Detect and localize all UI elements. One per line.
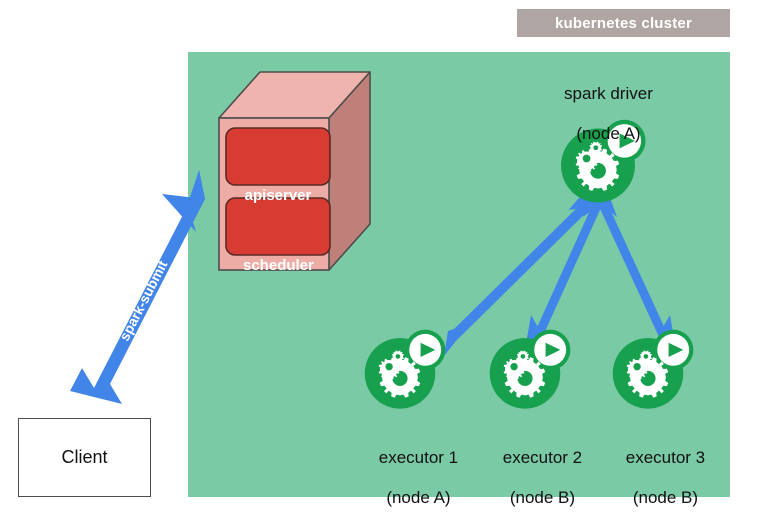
diagram-canvas: kubernetes cluster apiserver scheduler s…	[0, 0, 761, 516]
client-box[interactable]: Client	[18, 418, 151, 497]
kubernetes-cluster-badge: kubernetes cluster	[517, 9, 730, 37]
scheduler-box[interactable]	[226, 198, 330, 255]
spark-submit-arrow	[70, 170, 205, 404]
apiserver-box[interactable]	[226, 128, 330, 185]
client-label: Client	[61, 447, 107, 468]
